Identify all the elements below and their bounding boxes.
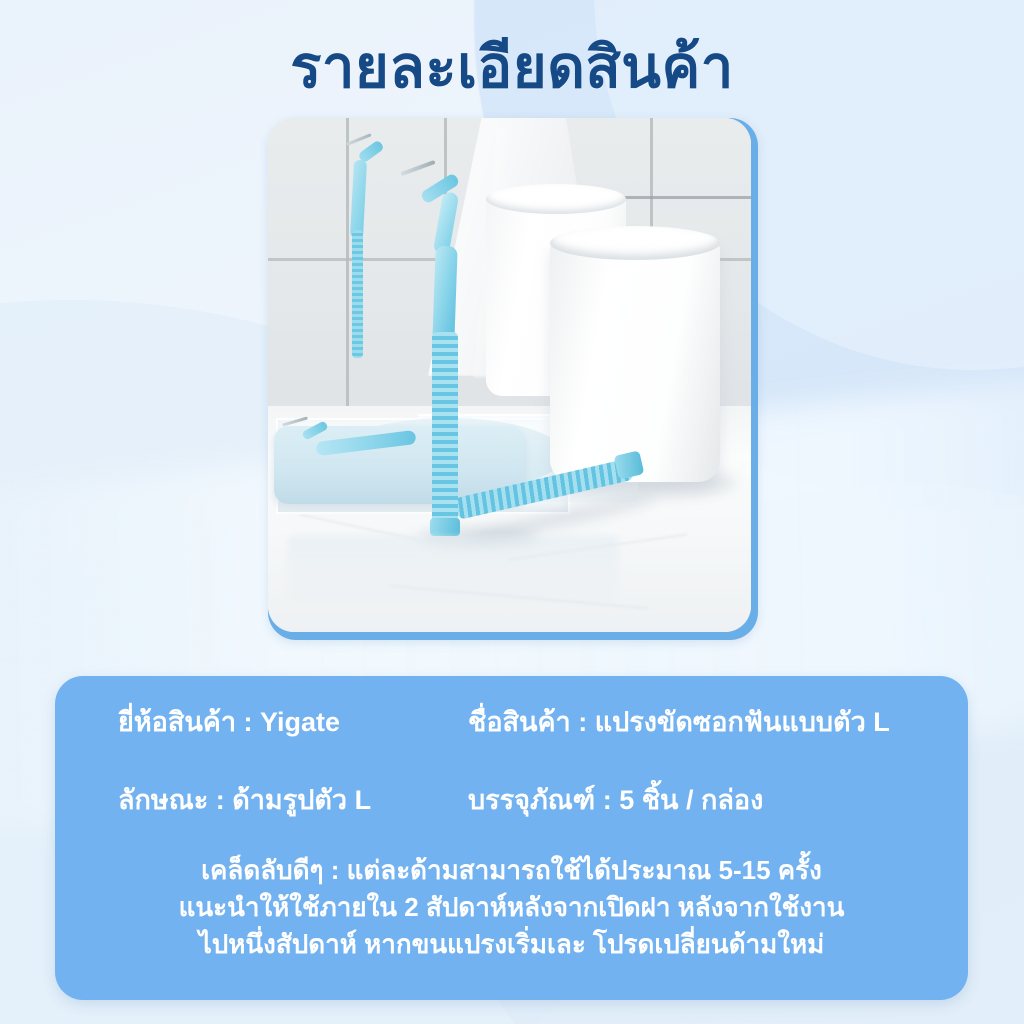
- spec-product-name: ชื่อสินค้า : แปรงขัดซอกฟันแบบตัว L: [468, 700, 890, 743]
- white-cup-front-rim: [550, 226, 720, 260]
- spec-row-type: ลักษณะ : ด้ามรูปตัว L บรรจุภัณฑ์ : 5 ชิ้…: [55, 778, 968, 821]
- usage-tips-line-1: เคล็ดลับดีๆ : แต่ละด้ามสามารถใช้ได้ประมา…: [85, 852, 938, 889]
- spec-handle-type: ลักษณะ : ด้ามรูปตัว L: [55, 778, 468, 821]
- white-cup-front: [550, 240, 720, 482]
- counter-reflection: [288, 536, 618, 606]
- spec-packaging: บรรจุภัณฑ์ : 5 ชิ้น / กล่อง: [468, 778, 763, 821]
- product-detail-page: รายละเอียดสินค้า: [0, 0, 1024, 1024]
- brush-grip: [432, 246, 457, 343]
- tile-grout-line: [346, 118, 349, 418]
- usage-tips: เคล็ดลับดีๆ : แต่ละด้ามสามารถใช้ได้ประมา…: [55, 852, 968, 963]
- usage-tips-line-3: ไปหนึ่งสัปดาห์ หากขนแปรงเริ่มเละ โปรดเปล…: [85, 926, 938, 963]
- interdental-brush-standing-back: [352, 230, 363, 358]
- page-title: รายละเอียดสินค้า: [0, 38, 1024, 99]
- usage-tips-line-2: แนะนำให้ใช้ภายใน 2 สัปดาห์หลังจากเปิดฝา …: [85, 889, 938, 926]
- spec-brand: ยี่ห้อสินค้า : Yigate: [55, 700, 468, 743]
- brush-base: [430, 518, 460, 536]
- product-photo-frame: [268, 118, 758, 640]
- photo-scene: [268, 118, 751, 632]
- product-photo: [268, 118, 751, 632]
- spec-row-brand: ยี่ห้อสินค้า : Yigate ชื่อสินค้า : แปรงข…: [55, 700, 968, 743]
- white-cup-back-rim: [486, 184, 626, 214]
- interdental-brush-standing-main: [432, 332, 458, 528]
- product-info-card: ยี่ห้อสินค้า : Yigate ชื่อสินค้า : แปรงข…: [55, 676, 968, 1000]
